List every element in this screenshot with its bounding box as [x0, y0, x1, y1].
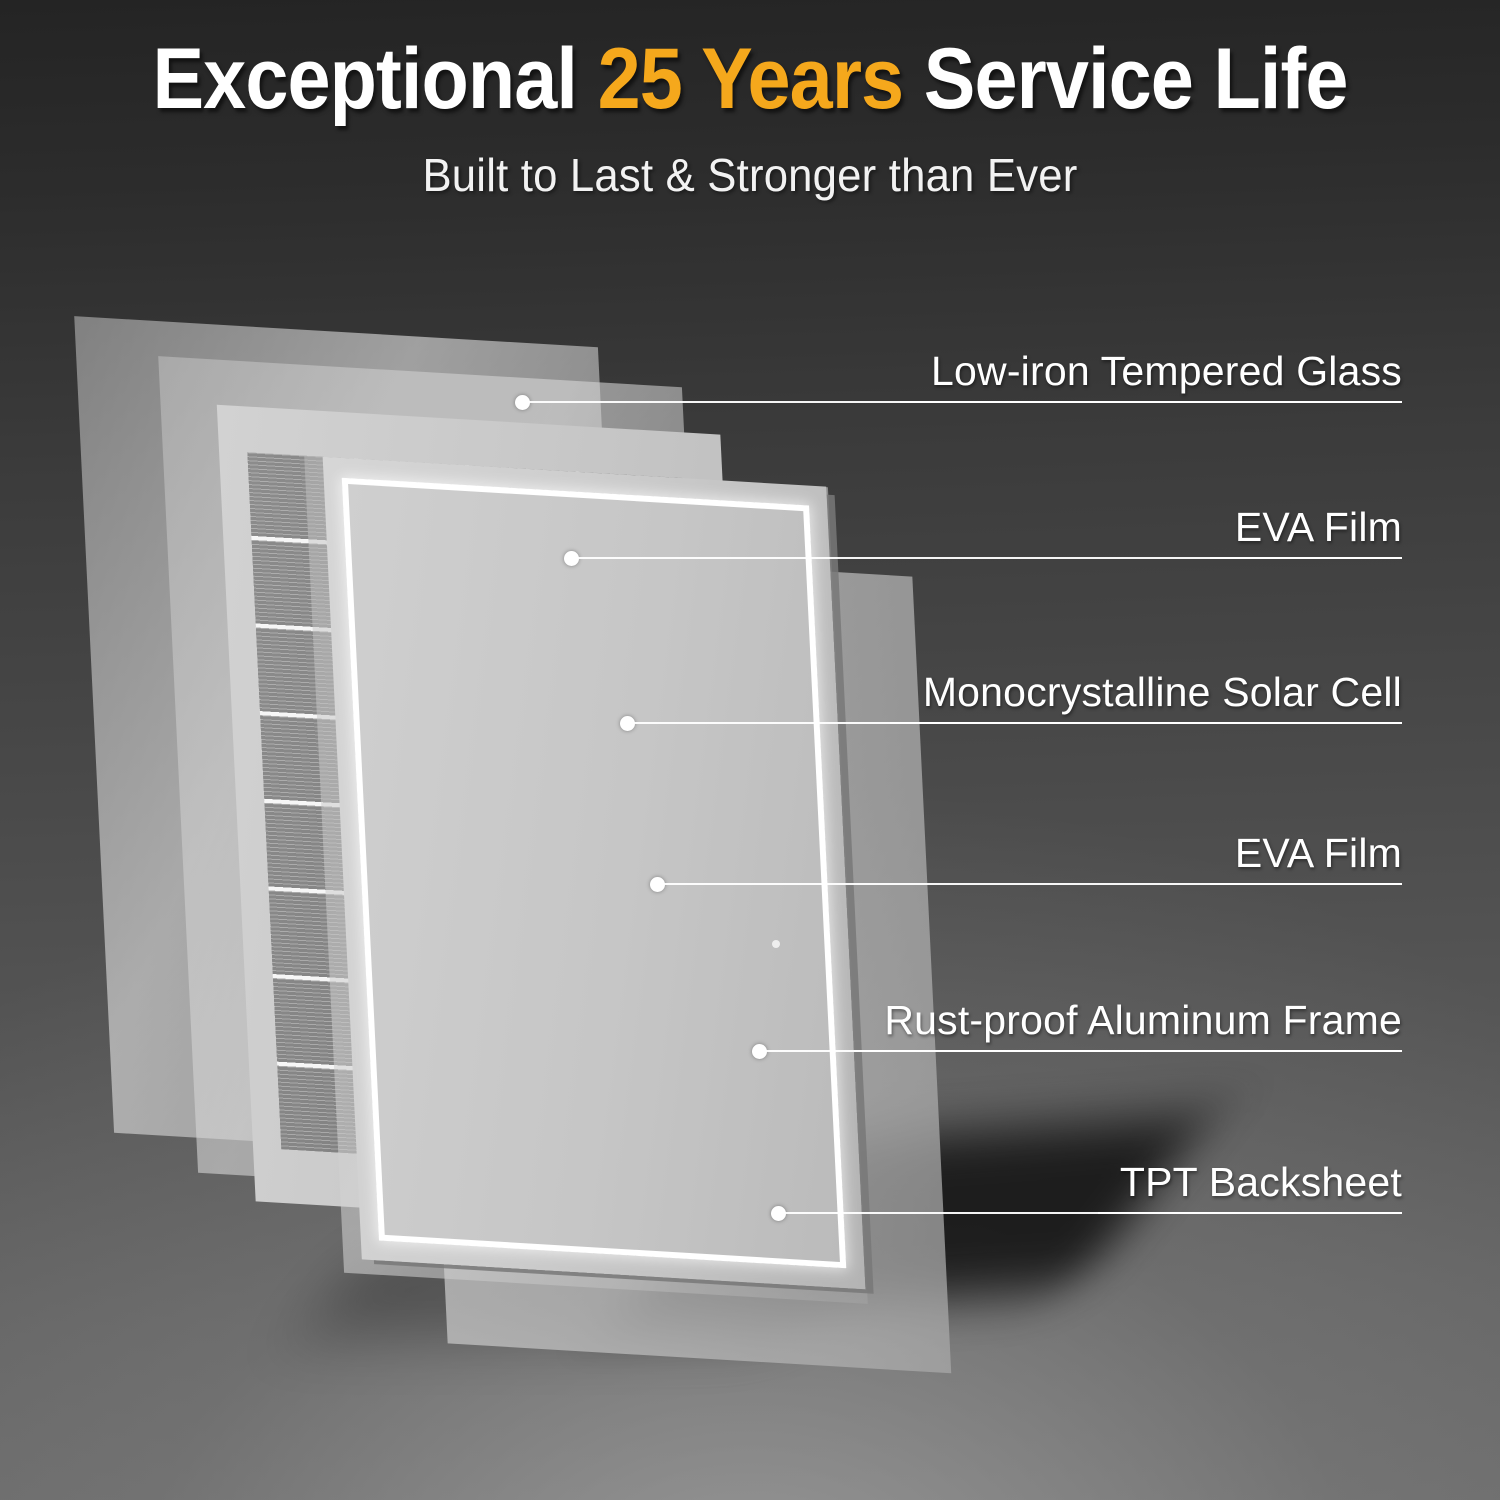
callout-label-tpt-backsheet: TPT Backsheet: [1120, 1159, 1402, 1206]
callout-tpt-backsheet: TPT Backsheet: [0, 0, 1500, 1500]
callout-underline: [1098, 1212, 1402, 1214]
infographic-stage: Exceptional 25 Years Service Life Built …: [0, 0, 1500, 1500]
